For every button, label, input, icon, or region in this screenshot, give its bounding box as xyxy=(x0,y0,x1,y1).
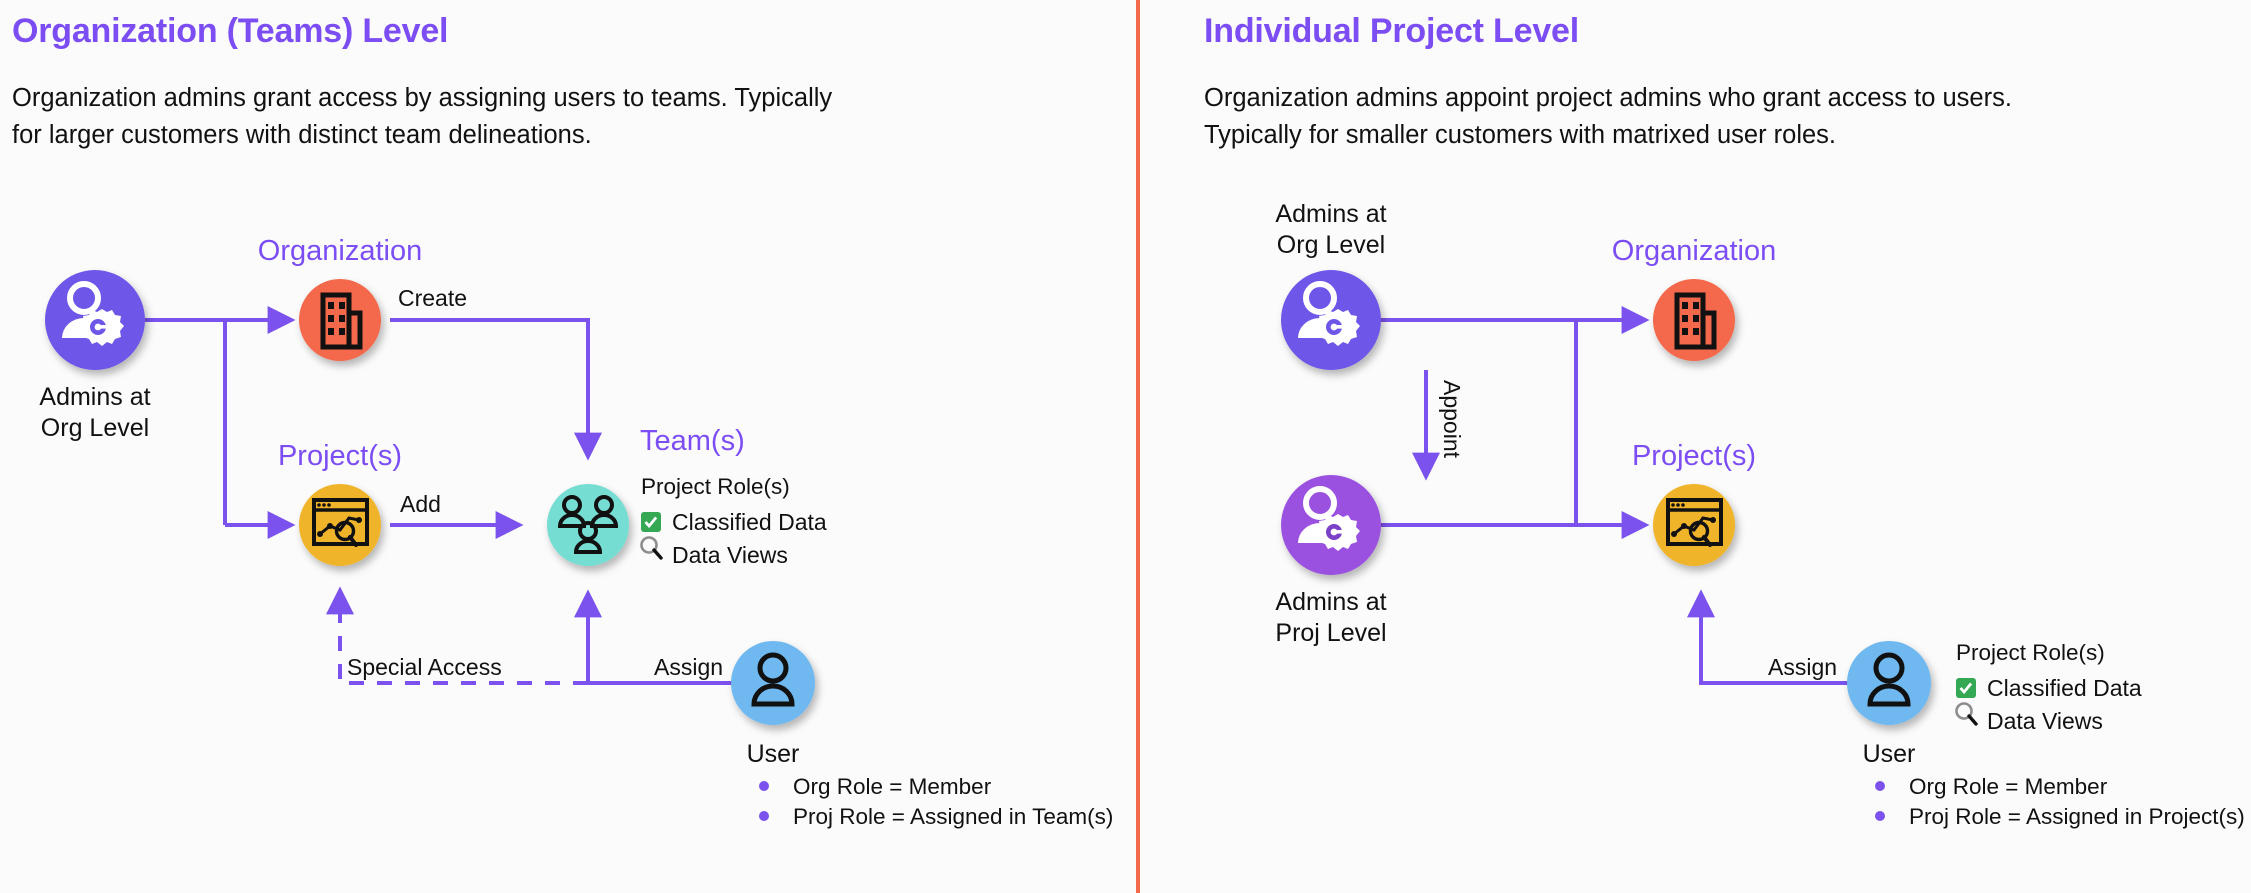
bullet-dot xyxy=(1875,781,1885,791)
role-item-label: Classified Data xyxy=(672,509,827,535)
node-admins-org-level[interactable]: Admins at Org Level xyxy=(1275,200,1386,370)
user-bullets: Org Role = Member Proj Role = Assigned i… xyxy=(1875,774,2245,829)
edge-label-appoint: Appoint xyxy=(1439,380,1465,459)
user-bullet-item: Proj Role = Assigned in Project(s) xyxy=(1909,804,2245,829)
org-admins-label-line-1: Admins at xyxy=(1275,200,1386,228)
projects-label: Project(s) xyxy=(278,440,402,472)
admins-label-line-2: Org Level xyxy=(41,414,149,442)
teams-project-roles: Project Role(s) Classified Data Data Vie… xyxy=(641,474,827,568)
magnifier-icon xyxy=(642,538,662,559)
panel-individual-project-level: Individual Project Level Organization ad… xyxy=(1136,0,2251,893)
user-bullets: Org Role = Member Proj Role = Assigned i… xyxy=(759,774,1113,829)
roles-header: Project Role(s) xyxy=(1956,640,2105,665)
proj-admins-label-line-1: Admins at xyxy=(1275,588,1386,616)
user-label: User xyxy=(1863,740,1916,768)
bullet-dot xyxy=(759,811,769,821)
edge-label-special-access: Special Access xyxy=(347,654,502,680)
edges-left xyxy=(145,320,738,683)
bullet-dot xyxy=(1875,811,1885,821)
bullet-dot xyxy=(759,781,769,791)
teams-label: Team(s) xyxy=(640,425,745,457)
edge-organization-to-teams xyxy=(390,320,588,455)
node-admins-proj-level[interactable]: Admins at Proj Level xyxy=(1275,475,1386,647)
role-item-label: Data Views xyxy=(672,542,788,568)
magnifier-icon xyxy=(1957,704,1977,725)
projects-label: Project(s) xyxy=(1632,440,1756,472)
node-projects[interactable]: Project(s) xyxy=(1632,440,1756,566)
diagram-left: Admins at Org Level Organization Project… xyxy=(0,0,1136,893)
organization-label: Organization xyxy=(1612,235,1776,267)
user-bullet-item: Org Role = Member xyxy=(793,774,992,799)
edge-label-add: Add xyxy=(400,491,441,517)
role-item-data-views: Data Views xyxy=(1957,704,2103,735)
node-projects[interactable]: Project(s) xyxy=(278,440,402,566)
organization-label: Organization xyxy=(258,235,422,267)
admins-label-line-1: Admins at xyxy=(39,383,150,411)
edge-label-assign: Assign xyxy=(1768,654,1837,680)
edges-right xyxy=(1381,320,1854,683)
node-user[interactable]: User xyxy=(731,641,815,768)
user-project-roles: Project Role(s) Classified Data Data Vie… xyxy=(1956,640,2142,734)
role-item-classified-data: Classified Data xyxy=(641,509,827,535)
user-bullet-item: Proj Role = Assigned in Team(s) xyxy=(793,804,1113,829)
edge-label-create: Create xyxy=(398,285,467,311)
role-item-label: Classified Data xyxy=(1987,675,2142,701)
role-item-label: Data Views xyxy=(1987,708,2103,734)
user-label: User xyxy=(747,740,800,768)
org-admins-label-line-2: Org Level xyxy=(1277,231,1385,259)
role-item-classified-data: Classified Data xyxy=(1956,675,2142,701)
role-item-data-views: Data Views xyxy=(642,538,788,569)
node-admins-org-level[interactable]: Admins at Org Level xyxy=(39,270,150,442)
roles-header: Project Role(s) xyxy=(641,474,790,499)
diagram-right: Admins at Org Level xyxy=(1136,0,2251,893)
edge-label-assign: Assign xyxy=(654,654,723,680)
user-bullet-item: Org Role = Member xyxy=(1909,774,2108,799)
node-user[interactable]: User xyxy=(1847,641,1931,768)
node-organization[interactable]: Organization xyxy=(1612,235,1776,361)
panel-organization-teams-level: Organization (Teams) Level Organization … xyxy=(0,0,1136,893)
proj-admins-label-line-2: Proj Level xyxy=(1275,619,1386,647)
